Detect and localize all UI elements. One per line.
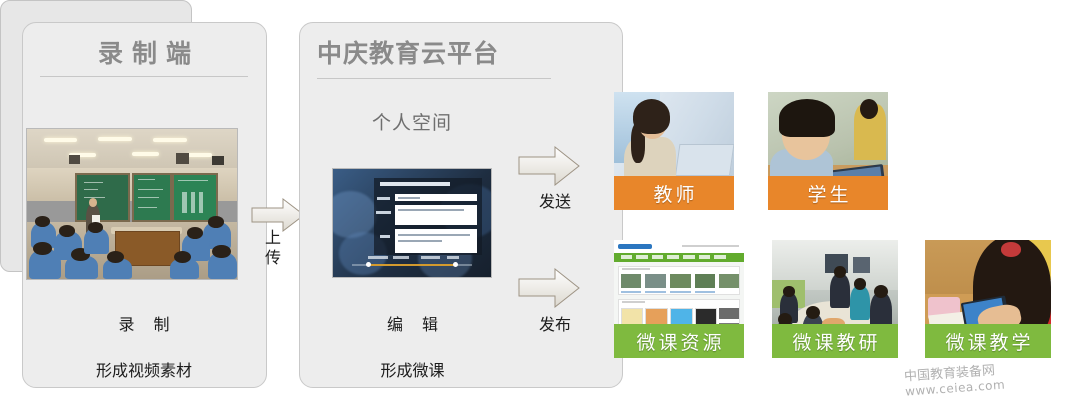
recording-caption-line2: 形成视频素材 bbox=[44, 359, 244, 382]
personal-space-title: 个人空间 bbox=[317, 108, 507, 135]
card-student[interactable]: 学生 bbox=[768, 92, 888, 210]
upload-arrow-label: 上 传 bbox=[255, 228, 291, 268]
watermark: 中国教育装备网 www.ceiea.com bbox=[904, 358, 1067, 413]
recording-caption-line1: 录 制 bbox=[44, 313, 244, 336]
cloud-platform-divider bbox=[317, 78, 551, 79]
send-arrow-label: 发送 bbox=[520, 192, 590, 212]
card-research-label: 微课教研 bbox=[772, 324, 898, 358]
watermark-line2: www.ceiea.com bbox=[905, 373, 1066, 399]
editing-caption-line2: 形成微课 bbox=[330, 359, 495, 382]
diagram-canvas: 录制端 bbox=[0, 0, 1067, 410]
send-arrow bbox=[518, 146, 580, 186]
card-micro-course-research[interactable]: 微课教研 bbox=[772, 240, 898, 358]
card-student-label: 学生 bbox=[768, 176, 888, 210]
card-teacher-label: 教师 bbox=[614, 176, 734, 210]
watermark-line1: 中国教育装备网 bbox=[904, 358, 1065, 384]
editing-caption: 编 辑 形成微课 bbox=[330, 290, 495, 405]
card-micro-course-resources[interactable]: 微课资源 bbox=[614, 240, 744, 358]
upload-arrow bbox=[251, 198, 305, 232]
card-micro-course-teaching[interactable]: 微课教学 bbox=[925, 240, 1051, 358]
video-editing-screenshot bbox=[332, 168, 492, 278]
card-resources-label: 微课资源 bbox=[614, 324, 744, 358]
publish-arrow-label: 发布 bbox=[520, 315, 590, 335]
recording-panel-divider bbox=[40, 76, 248, 77]
classroom-photo bbox=[26, 128, 238, 280]
recording-caption: 录 制 形成视频素材 bbox=[44, 290, 244, 405]
publish-arrow bbox=[518, 268, 580, 308]
cloud-platform-title: 中庆教育云平台 bbox=[317, 34, 499, 70]
recording-panel-title: 录制端 bbox=[22, 34, 267, 70]
card-teacher[interactable]: 教师 bbox=[614, 92, 734, 210]
editing-caption-line1: 编 辑 bbox=[330, 313, 495, 336]
card-teaching-label: 微课教学 bbox=[925, 324, 1051, 358]
